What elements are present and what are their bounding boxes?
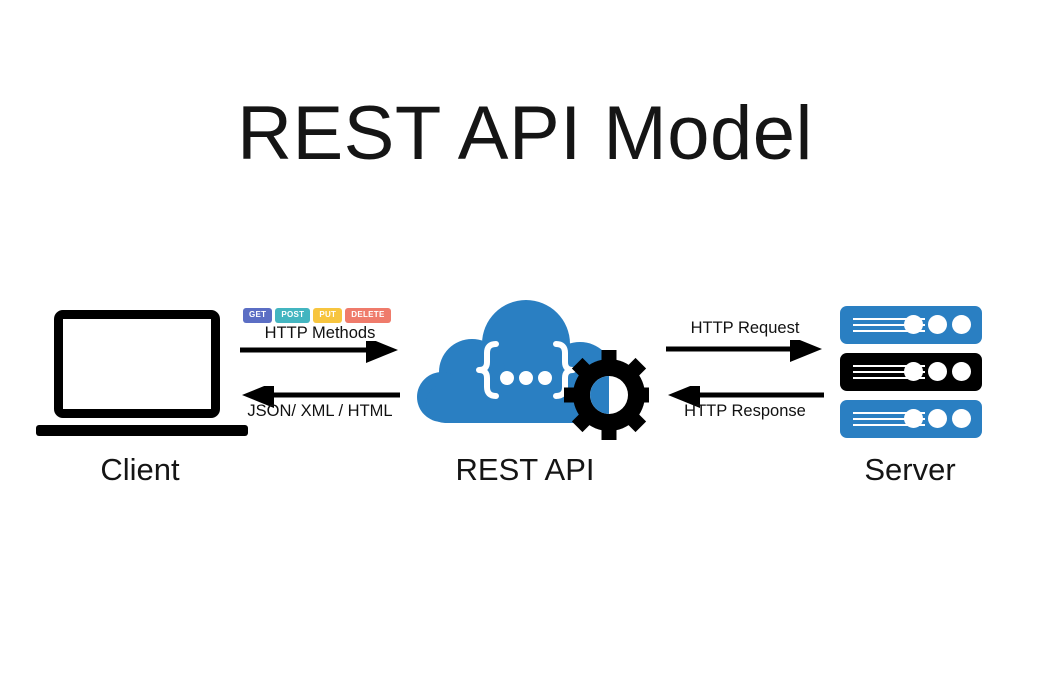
- server-bar: [840, 306, 982, 344]
- arrow-right-icon: [240, 341, 400, 371]
- server-label: Server: [790, 454, 1030, 485]
- arrow-json-xml-html: JSON/ XML / HTML: [240, 386, 400, 418]
- arrow-http-response: HTTP Response: [666, 386, 824, 418]
- ellipsis-dots: [500, 371, 552, 385]
- badge-get: GET: [243, 308, 272, 323]
- rest-api-label: REST API: [405, 454, 645, 485]
- arrow-label: JSON/ XML / HTML: [240, 403, 400, 420]
- laptop-screen: [54, 310, 220, 418]
- server-stack-icon: [840, 306, 982, 438]
- arrow-label: HTTP Request: [666, 320, 824, 337]
- arrow-label: HTTP Response: [666, 403, 824, 420]
- arrow-http-request: HTTP Request: [666, 320, 824, 354]
- badge-put: PUT: [313, 308, 342, 323]
- cloud-gear-icon: [404, 292, 649, 440]
- client-label: Client: [20, 454, 260, 485]
- cloud-shape: [404, 292, 649, 440]
- badge-delete: DELETE: [345, 308, 390, 323]
- badge-post: POST: [275, 308, 310, 323]
- laptop-base: [36, 425, 248, 436]
- server-bar: [840, 353, 982, 391]
- arrow-right-icon: [666, 340, 824, 370]
- page-title: REST API Model: [0, 96, 1050, 172]
- server-indicator-lights: [904, 409, 971, 428]
- arrow-label: HTTP Methods: [240, 325, 400, 342]
- server-bar: [840, 400, 982, 438]
- laptop-icon: [36, 310, 248, 436]
- server-indicator-lights: [904, 315, 971, 334]
- http-method-badges: GET POST PUT DELETE: [243, 308, 391, 323]
- server-indicator-lights: [904, 362, 971, 381]
- arrow-http-methods: HTTP Methods: [240, 325, 400, 355]
